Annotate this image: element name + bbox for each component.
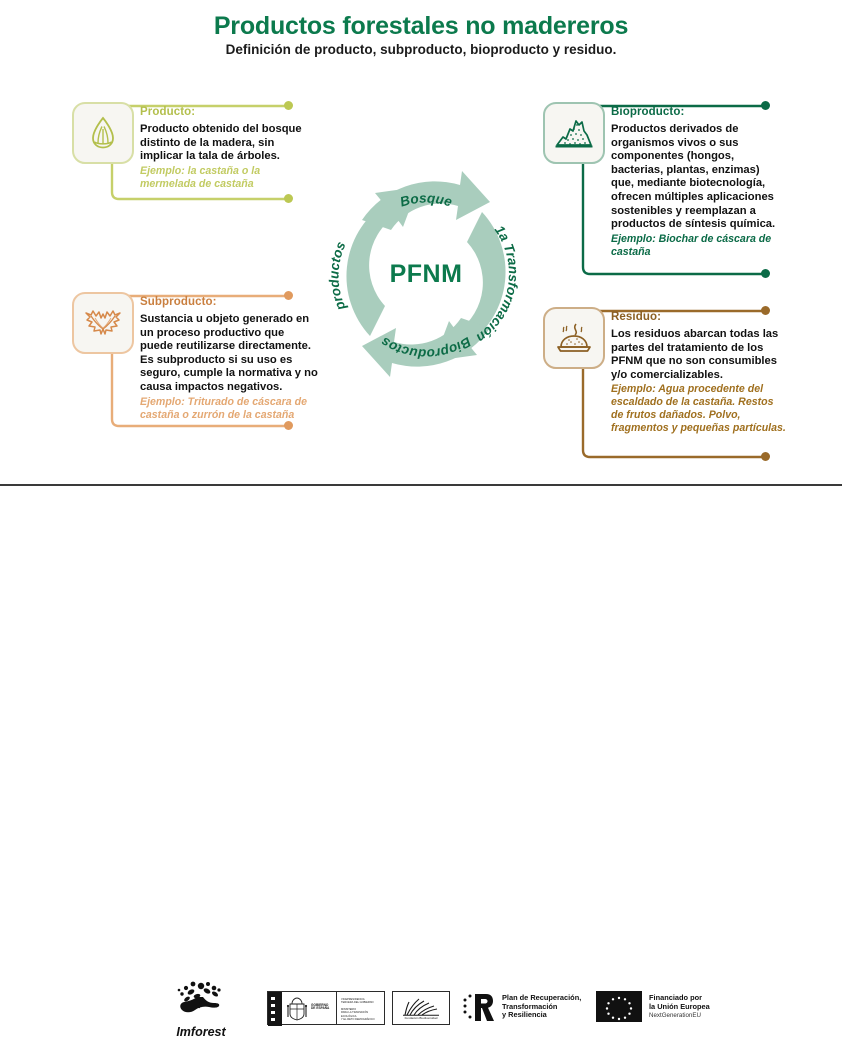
connector-dot-subproducto-bottom <box>284 421 293 430</box>
eu-flag-icon <box>596 991 642 1022</box>
steaming-tray-icon <box>553 318 595 358</box>
connector-dot-producto-top <box>284 101 293 110</box>
connector-dot-residuo-top <box>761 306 770 315</box>
grass-icon <box>401 996 441 1016</box>
prtr-line3: y Resiliencia <box>502 1011 581 1020</box>
chestnut-burr-icon <box>82 303 124 343</box>
residuo-icon-box <box>543 307 605 369</box>
gob-line2: TERCERA DEL GOBIERNO <box>341 1001 383 1004</box>
pfnm-cycle-wheel: Bosque 1a Transformación Bioproductos pr… <box>310 158 542 390</box>
connector-dot-residuo-bottom <box>761 452 770 461</box>
imforest-label: Imforest <box>162 1025 240 1039</box>
gob-line4: PARA LA TRANSICIÓN ECOLÓGICA <box>341 1011 383 1018</box>
eu-line1: Financiado por <box>649 994 710 1003</box>
eu-line2: la Unión Europea <box>649 1003 710 1012</box>
subproducto-body: Sustancia u objeto generado en un proces… <box>140 313 318 395</box>
residuo-example: Ejemplo: Agua procedente del escaldado d… <box>611 383 786 435</box>
producto-body: Producto obtenido del bosque distinto de… <box>140 123 315 164</box>
gob-line5: Y EL RETO DEMOGRÁFICO <box>341 1018 383 1021</box>
escudo-espana-icon <box>286 997 308 1021</box>
bioproducto-body: Productos derivados de organismos vivos … <box>611 123 783 232</box>
connector-dot-bioproducto-top <box>761 101 770 110</box>
fundacion-biodiversidad-logo: Fundación Biodiversidad <box>392 991 450 1025</box>
chestnut-icon <box>83 113 123 153</box>
prtr-mark-icon <box>462 991 496 1023</box>
infographic-canvas: Productos forestales no madereros Defini… <box>0 0 842 552</box>
subproducto-icon-box <box>72 292 134 354</box>
prtr-line2: Transformación <box>502 1003 581 1012</box>
connector-dot-producto-bottom <box>284 194 293 203</box>
page-title: Productos forestales no madereros <box>0 12 842 41</box>
prtr-logo: Plan de Recuperación, Transformación y R… <box>462 991 581 1023</box>
prtr-line1: Plan de Recuperación, <box>502 994 581 1003</box>
imforest-logo: Imforest <box>162 979 240 1039</box>
subproducto-example: Ejemplo: Triturado de cáscara de castaña… <box>140 396 318 422</box>
bioproducto-heading: Bioproducto: <box>611 106 783 118</box>
producto-example: Ejemplo: la castaña o la mermelada de ca… <box>140 165 315 191</box>
gobierno-espana-logo: GOBIERNO DE ESPAÑA VICEPRESIDENCIA TERCE… <box>267 991 385 1025</box>
biochar-pile-icon <box>553 113 595 153</box>
residuo-heading: Residuo: <box>611 311 786 323</box>
residuo-body: Los residuos abarcan todas las partes de… <box>611 328 786 382</box>
eu-line3: NextGenerationEU <box>649 1012 710 1019</box>
imforest-tree-hand-icon <box>173 979 229 1019</box>
page-subtitle: Definición de producto, subproducto, bio… <box>0 42 842 57</box>
gob-brand-line2: DE ESPAÑA <box>311 1007 329 1010</box>
bioproducto-example: Ejemplo: Biochar de cáscara de castaña <box>611 233 783 259</box>
connector-dot-subproducto-top <box>284 291 293 300</box>
eu-funding-logo: Financiado por la Unión Europea NextGene… <box>596 991 710 1022</box>
wheel-center-label: PFNM <box>310 158 542 390</box>
producto-icon-box <box>72 102 134 164</box>
biodiversidad-label: Fundación Biodiversidad <box>405 1017 438 1020</box>
footer: Imforest GOBIERNO DE ESPAÑA <box>0 486 842 552</box>
connector-dot-bioproducto-bottom <box>761 269 770 278</box>
bioproducto-icon-box <box>543 102 605 164</box>
